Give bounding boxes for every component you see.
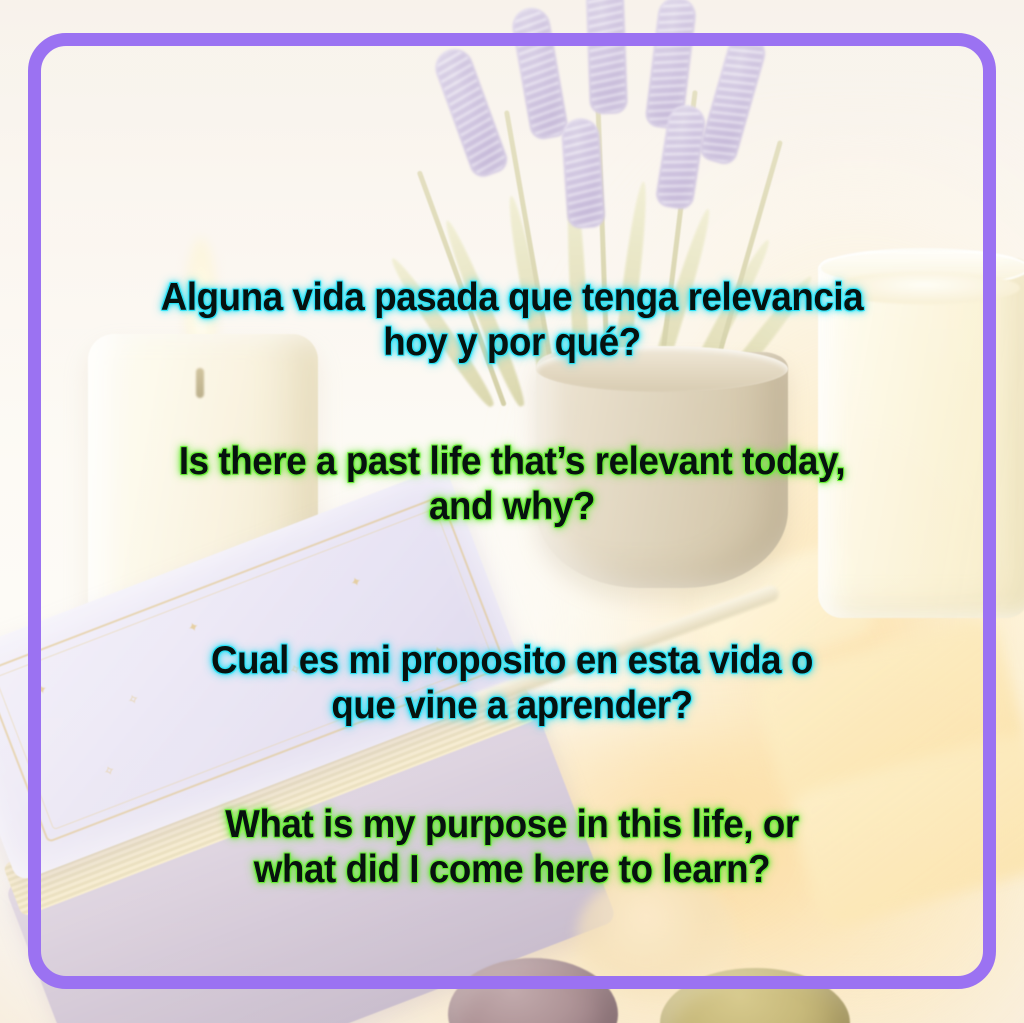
question-block-1: Alguna vida pasada que tenga relevancia … (0, 275, 1024, 529)
question-1-english: Is there a past life that’s relevant tod… (31, 439, 994, 529)
question-block-2: Cual es mi proposito en esta vida o que … (0, 638, 1024, 892)
question-1-spanish: Alguna vida pasada que tenga relevancia … (31, 275, 994, 365)
question-2-spanish: Cual es mi proposito en esta vida o que … (31, 638, 994, 728)
quote-card: ✦ ✧ ✦ ✧ ✦ ✧ ✦ Alguna vida pasada que ten… (0, 0, 1024, 1023)
question-2-english: What is my purpose in this life, or what… (31, 802, 994, 892)
text-overlay: Alguna vida pasada que tenga relevancia … (0, 0, 1024, 1023)
